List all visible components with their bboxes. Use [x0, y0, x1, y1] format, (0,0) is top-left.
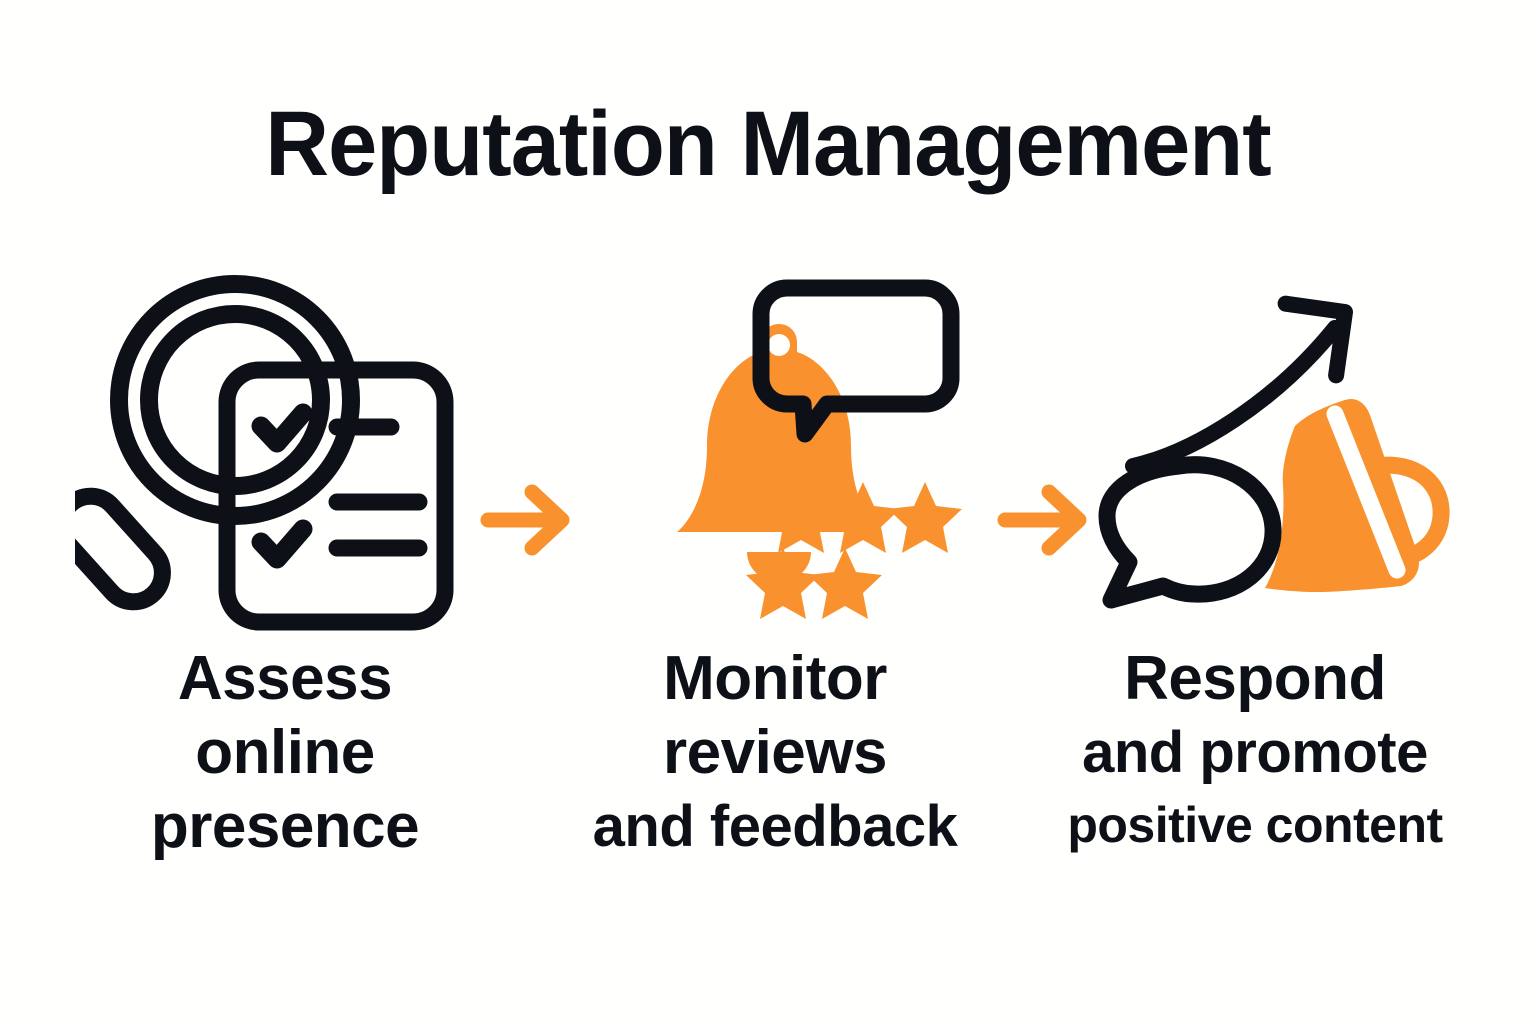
assess-label: Assess online presence [75, 642, 495, 864]
checklist-document-icon [227, 370, 445, 622]
step-assess: Assess online presence [75, 270, 495, 930]
monitor-label: Monitor reviews and feedback [565, 642, 985, 864]
respond-label-line-2: and promote [1045, 716, 1465, 790]
respond-label: Respond and promote positive content [1045, 642, 1465, 860]
assess-label-line-1: Assess [75, 642, 495, 716]
respond-icon-group [1045, 270, 1465, 640]
respond-label-line-1: Respond [1045, 642, 1465, 716]
megaphone-icon [1265, 399, 1441, 592]
monitor-label-line-2: reviews [565, 716, 985, 790]
star-icon [808, 548, 882, 619]
speech-bubble-icon [1107, 465, 1273, 600]
page-title: Reputation Management [31, 96, 1506, 192]
magnifier-checklist-illustration [75, 270, 495, 640]
magnifier-handle-icon [75, 484, 174, 613]
monitor-label-line-1: Monitor [565, 642, 985, 716]
assess-label-line-2: online [75, 716, 495, 790]
bell-reviews-illustration [565, 270, 985, 640]
infographic-canvas: Reputation Management [0, 0, 1536, 1024]
megaphone-growth-illustration [1045, 270, 1465, 640]
monitor-icon-group [565, 270, 985, 640]
star-icon [888, 482, 962, 553]
monitor-label-line-3: and feedback [565, 790, 985, 864]
respond-label-line-3: positive content [1045, 790, 1465, 860]
assess-icon-group [75, 270, 495, 640]
step-monitor: Monitor reviews and feedback [565, 270, 985, 930]
assess-label-line-3: presence [75, 790, 495, 864]
step-respond: Respond and promote positive content [1045, 270, 1465, 930]
